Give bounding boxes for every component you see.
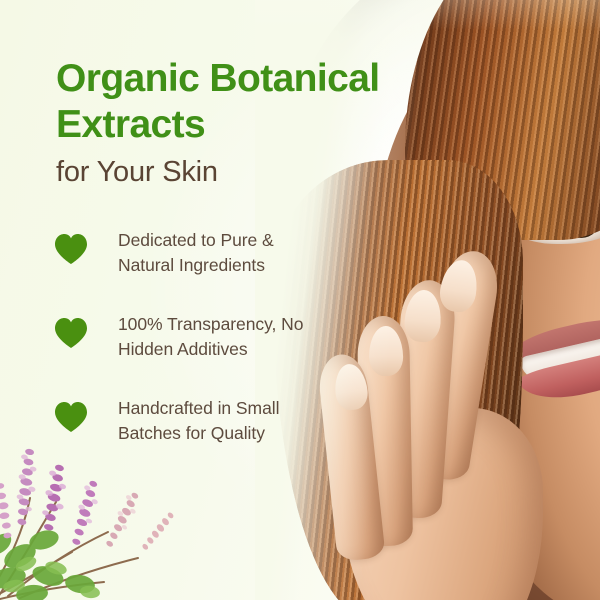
list-item: Handcrafted in Small Batches for Quality (54, 396, 354, 446)
hand-on-cheek (313, 258, 593, 600)
list-item-label: Handcrafted in Small Batches for Quality (118, 396, 279, 446)
promo-banner: Organic Botanical Extracts for Your Skin… (0, 0, 600, 600)
page-title: Organic Botanical Extracts (56, 56, 386, 148)
headline-block: Organic Botanical Extracts for Your Skin (56, 56, 386, 189)
page-subtitle: for Your Skin (56, 155, 386, 189)
list-item: Dedicated to Pure & Natural Ingredients (54, 228, 354, 278)
heart-icon (54, 401, 88, 433)
heart-icon (54, 233, 88, 265)
list-item: 100% Transparency, No Hidden Additives (54, 312, 354, 362)
feature-list: Dedicated to Pure & Natural Ingredients … (54, 228, 354, 446)
list-item-label: Dedicated to Pure & Natural Ingredients (118, 228, 274, 278)
list-item-label: 100% Transparency, No Hidden Additives (118, 312, 303, 362)
heart-icon (54, 317, 88, 349)
